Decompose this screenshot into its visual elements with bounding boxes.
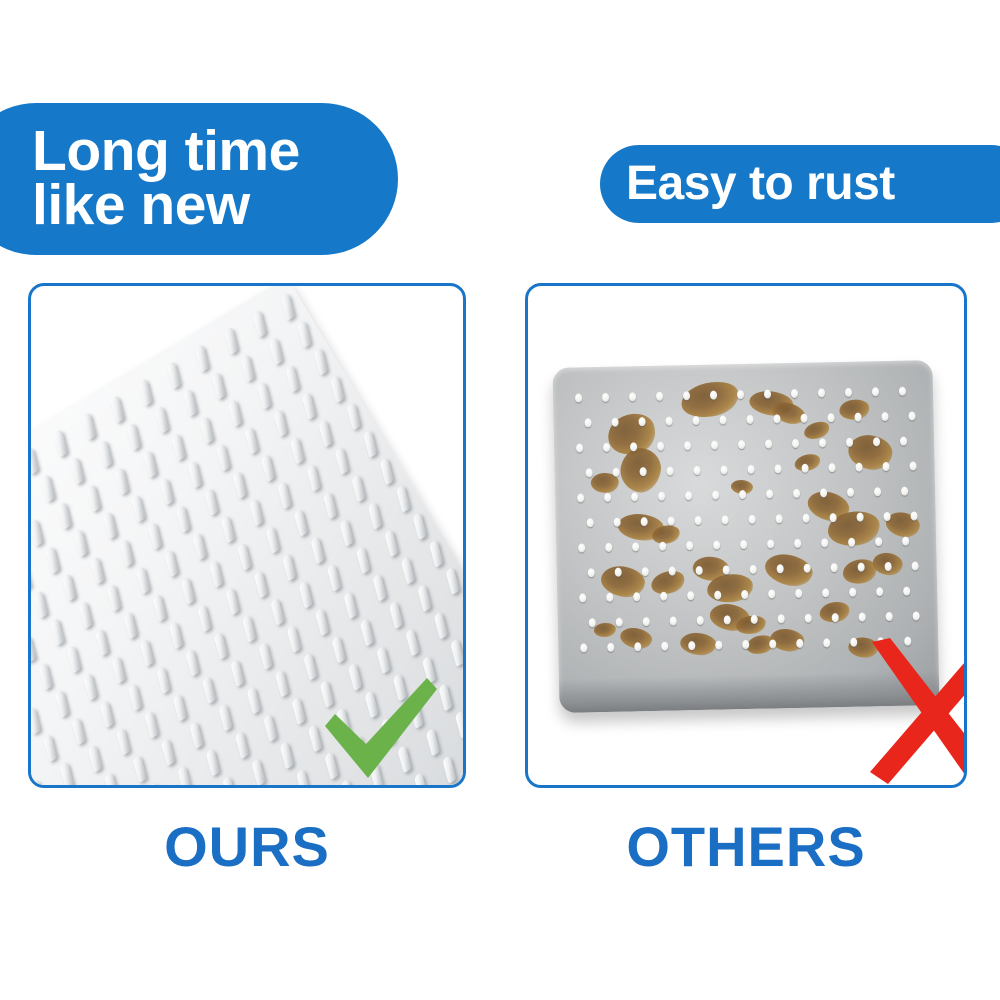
mat-stud-dot xyxy=(765,439,772,448)
mat-stud-dot xyxy=(872,387,879,396)
mat-stud xyxy=(79,600,93,629)
mat-stud-dot xyxy=(791,389,798,398)
mat-stud xyxy=(302,392,316,421)
mat-stud-dot xyxy=(715,641,722,650)
mat-stud xyxy=(200,415,214,444)
mat-stud-dot xyxy=(899,387,906,396)
mat-stud xyxy=(197,604,211,633)
mat-stud xyxy=(344,590,358,619)
mat-stud-dot xyxy=(804,564,811,573)
mat-stud xyxy=(443,755,457,784)
mat-stud xyxy=(278,481,292,510)
mat-stud xyxy=(145,710,159,739)
mat-stud-dot xyxy=(830,513,837,522)
mat-stud-dot xyxy=(634,642,641,651)
mat-stud-dot xyxy=(657,442,664,451)
mat-stud xyxy=(389,601,403,630)
cross-icon xyxy=(858,636,964,785)
mat-stud-dot xyxy=(629,392,636,401)
mat-stud xyxy=(368,501,382,530)
mat-stud-dot xyxy=(684,441,691,450)
mat-stud xyxy=(209,559,223,588)
mat-stud-dot xyxy=(660,592,667,601)
mat-stud xyxy=(356,546,370,575)
mat-stud-dot xyxy=(912,561,919,570)
mat-stud-dot xyxy=(796,639,803,648)
mat-stud xyxy=(306,463,320,492)
mat-stud xyxy=(462,594,463,623)
mat-stud-dot xyxy=(828,463,835,472)
mat-stud xyxy=(155,405,169,434)
mat-stud-dot xyxy=(831,563,838,572)
mat-stud-dot xyxy=(881,412,888,421)
mat-stud xyxy=(167,361,181,390)
mat-stud-dot xyxy=(803,514,810,523)
mat-stud xyxy=(245,426,259,455)
mat-stud xyxy=(279,741,293,770)
mat-stud-dot xyxy=(913,611,920,620)
mat-stud-dot xyxy=(633,592,640,601)
mat-stud xyxy=(133,754,147,783)
mat-stud xyxy=(103,511,117,540)
mat-stud-dot xyxy=(748,465,755,474)
mat-stud xyxy=(287,624,301,653)
mat-stud xyxy=(86,484,100,513)
mat-stud xyxy=(315,607,329,636)
mat-stud xyxy=(112,655,126,684)
mat-stud xyxy=(254,570,268,599)
mat-stud-dot xyxy=(643,617,650,626)
mat-stud-dot xyxy=(908,411,915,420)
mat-stud-dot xyxy=(587,518,594,527)
panel-others xyxy=(525,283,967,788)
mat-stud xyxy=(31,634,36,663)
mat-stud xyxy=(156,665,170,694)
mat-stud xyxy=(450,638,463,667)
caption-ours: OURS xyxy=(28,812,466,882)
mat-stud xyxy=(330,374,344,403)
mat-stud xyxy=(180,576,194,605)
mat-stud xyxy=(116,727,130,756)
mat-stud-dot xyxy=(575,393,582,402)
mat-stud-dot xyxy=(766,489,773,498)
mat-stud xyxy=(70,456,84,485)
mat-stud xyxy=(128,683,142,712)
mat-stud xyxy=(224,326,238,355)
mat-stud xyxy=(332,635,346,664)
mat-stud xyxy=(291,696,305,725)
mat-stud-dot xyxy=(576,443,583,452)
mat-stud xyxy=(95,628,109,657)
mat-stud-dot xyxy=(749,515,756,524)
mat-stud-dot xyxy=(886,612,893,621)
mat-stud xyxy=(327,563,341,592)
mat-stud-dot xyxy=(774,464,781,473)
mat-stud-dot xyxy=(773,414,780,423)
mat-stud xyxy=(318,419,332,448)
mat-stud-dot xyxy=(697,616,704,625)
mat-stud-dot xyxy=(857,513,864,522)
mat-stud-dot xyxy=(848,538,855,547)
mat-stud-dot xyxy=(875,537,882,546)
panel-ours xyxy=(28,283,466,788)
mat-stud xyxy=(115,467,129,496)
mat-stud-dot xyxy=(710,391,717,400)
mat-stud xyxy=(159,477,173,506)
mat-stud-dot xyxy=(667,467,674,476)
mat-stud-dot xyxy=(855,463,862,472)
mat-stud xyxy=(46,545,60,574)
mat-stud-dot xyxy=(900,437,907,446)
mat-stud-dot xyxy=(611,418,618,427)
mat-stud-dot xyxy=(658,492,665,501)
mat-stud-dot xyxy=(793,489,800,498)
mat-stud xyxy=(251,758,265,785)
mat-stud-dot xyxy=(577,493,584,502)
mat-stud-dot xyxy=(805,614,812,623)
mat-stud xyxy=(98,439,112,468)
mat-stud xyxy=(234,731,248,760)
mat-stud xyxy=(257,381,271,410)
mat-stud xyxy=(384,529,398,558)
mat-stud-dot xyxy=(694,466,701,475)
caption-others: OTHERS xyxy=(525,812,967,882)
mat-stud-dot xyxy=(615,568,622,577)
mat-stud xyxy=(275,669,289,698)
mat-stud-dot xyxy=(751,615,758,624)
mat-stud xyxy=(445,566,459,595)
mat-stud xyxy=(53,429,67,458)
mat-stud-dot xyxy=(586,468,593,477)
mat-stud xyxy=(263,714,277,743)
mat-stud-dot xyxy=(821,538,828,547)
mat-stud xyxy=(147,522,161,551)
mat-stud xyxy=(71,717,85,746)
mat-stud xyxy=(246,686,260,715)
mat-stud xyxy=(269,337,283,366)
mat-stud-dot xyxy=(801,464,808,473)
badge-easy-to-rust: Easy to rust xyxy=(600,145,1000,223)
mat-stud-dot xyxy=(764,389,771,398)
mat-stud-dot xyxy=(661,642,668,651)
mat-stud xyxy=(161,737,175,766)
mat-stud xyxy=(50,617,64,646)
mat-stud xyxy=(339,518,353,547)
mat-stud xyxy=(201,676,215,705)
mat-stud-dot xyxy=(614,518,621,527)
mat-stud xyxy=(396,484,410,513)
mat-stud-dot xyxy=(750,565,757,574)
mat-stud xyxy=(83,672,97,701)
mat-stud-dot xyxy=(692,416,699,425)
mat-stud xyxy=(140,638,154,667)
mat-stud-dot xyxy=(850,638,857,647)
mat-stud xyxy=(185,648,199,677)
mat-stud-dot xyxy=(714,591,721,600)
mat-stud-dot xyxy=(800,414,807,423)
mat-stud-dot xyxy=(737,390,744,399)
mat-stud xyxy=(168,621,182,650)
mat-stud-dot xyxy=(901,487,908,496)
mat-stud-dot xyxy=(854,413,861,422)
mat-stud-dot xyxy=(876,587,883,596)
mat-stud-dot xyxy=(820,488,827,497)
badge-long-time-like-new: Long time like new xyxy=(0,103,398,255)
mat-stud-dot xyxy=(847,488,854,497)
mat-stud xyxy=(242,614,256,643)
mat-stud xyxy=(216,443,230,472)
mat-stud xyxy=(82,412,96,441)
mat-stud-dot xyxy=(665,417,672,426)
comparison-infographic: Long time like new Easy to rust xyxy=(0,0,1000,1000)
mat-stud xyxy=(131,494,145,523)
mat-stud xyxy=(74,528,88,557)
mat-stud-dot xyxy=(792,439,799,448)
mat-stud xyxy=(110,395,124,424)
mat-stud xyxy=(188,460,202,489)
mat-stud xyxy=(221,515,235,544)
mat-stud xyxy=(126,422,140,451)
mat-stud xyxy=(323,491,337,520)
mat-stud-dot xyxy=(695,516,702,525)
mat-stud-dot xyxy=(659,542,666,551)
mat-stud xyxy=(206,748,220,777)
mat-stud xyxy=(143,450,157,479)
mat-stud xyxy=(240,354,254,383)
mat-stud-dot xyxy=(656,392,663,401)
mat-stud-dot xyxy=(873,437,880,446)
mat-stud xyxy=(335,446,349,475)
mat-stud xyxy=(347,402,361,431)
mat-stud xyxy=(218,703,232,732)
mat-stud-dot xyxy=(580,643,587,652)
mat-stud-dot xyxy=(711,441,718,450)
mat-stud xyxy=(152,593,166,622)
mat-stud xyxy=(417,584,431,613)
mat-stud-dot xyxy=(722,515,729,524)
mat-stud xyxy=(299,580,313,609)
mat-stud xyxy=(195,343,209,372)
mat-stud xyxy=(455,710,463,739)
check-icon xyxy=(319,674,441,785)
mat-stud-dot xyxy=(909,461,916,470)
mat-stud-dot xyxy=(902,537,909,546)
mat-stud xyxy=(296,768,310,785)
mat-stud xyxy=(297,320,311,349)
mat-stud xyxy=(41,473,55,502)
mat-stud xyxy=(173,693,187,722)
mat-stud-dot xyxy=(631,492,638,501)
mat-stud xyxy=(192,532,206,561)
mat-stud xyxy=(270,597,284,626)
mat-stud-dot xyxy=(641,517,648,526)
mat-stud-dot xyxy=(642,567,649,576)
mat-stud xyxy=(171,432,185,461)
mat-stud xyxy=(135,566,149,595)
mat-stud xyxy=(107,583,121,612)
mat-stud xyxy=(119,539,133,568)
mat-stud xyxy=(380,457,394,486)
mat-stud xyxy=(212,371,226,400)
mat-stud-dot xyxy=(858,563,865,572)
mat-stud-dot xyxy=(588,568,595,577)
mat-stud-dot xyxy=(819,438,826,447)
mat-stud-dot xyxy=(849,588,856,597)
mat-stud xyxy=(363,429,377,458)
mat-stud xyxy=(176,504,190,533)
mat-stud-dot xyxy=(688,641,695,650)
mat-stud-dot xyxy=(823,638,830,647)
mat-stud xyxy=(31,518,43,547)
mat-stud-dot xyxy=(630,442,637,451)
mat-stud-dot xyxy=(882,462,889,471)
mat-stud-dot xyxy=(777,564,784,573)
mat-stud xyxy=(225,587,239,616)
mat-stud xyxy=(266,525,280,554)
mat-stud-dot xyxy=(687,591,694,600)
mat-stud xyxy=(91,556,105,585)
mat-stud xyxy=(303,652,317,681)
mat-stud xyxy=(228,398,242,427)
mat-stud xyxy=(124,611,138,640)
mat-stud-dot xyxy=(795,589,802,598)
mat-stud-dot xyxy=(859,613,866,622)
mat-stud xyxy=(281,292,295,321)
mat-stud xyxy=(377,645,391,674)
mat-stud xyxy=(294,508,308,537)
mat-stud xyxy=(429,539,443,568)
mat-stud xyxy=(405,628,419,657)
mat-stud xyxy=(38,662,52,691)
mat-stud-dot xyxy=(903,587,910,596)
mat-stud xyxy=(58,501,72,530)
mat-stud-dot xyxy=(723,565,730,574)
mat-stud xyxy=(282,553,296,582)
mat-stud xyxy=(43,734,57,763)
mat-stud-dot xyxy=(721,465,728,474)
mat-stud-dot xyxy=(778,614,785,623)
mat-stud-dot xyxy=(613,468,620,477)
mat-stud-dot xyxy=(738,440,745,449)
mat-stud-dot xyxy=(696,566,703,575)
mat-stud-dot xyxy=(584,418,591,427)
mat-stud-dot xyxy=(579,593,586,602)
panel-others-photo xyxy=(528,286,964,785)
mat-stud-dot xyxy=(616,618,623,627)
mat-stud-dot xyxy=(685,491,692,500)
mat-stud-dot xyxy=(884,512,891,521)
mat-stud-dot xyxy=(606,593,613,602)
mat-stud-dot xyxy=(713,541,720,550)
mat-stud-dot xyxy=(832,613,839,622)
mat-stud xyxy=(59,761,73,785)
mat-stud-dot xyxy=(822,588,829,597)
panel-ours-photo xyxy=(31,286,463,785)
mat-stud-dot xyxy=(603,443,610,452)
mat-stud-dot xyxy=(712,491,719,500)
mat-stud-dot xyxy=(670,616,677,625)
mat-stud xyxy=(314,347,328,376)
mat-stud-dot xyxy=(776,514,783,523)
mat-stud xyxy=(258,642,272,671)
mat-stud xyxy=(237,542,251,571)
mat-stud xyxy=(183,388,197,417)
mat-stud xyxy=(138,378,152,407)
mat-stud xyxy=(233,470,247,499)
mat-stud-dot xyxy=(602,393,609,402)
mat-stud xyxy=(351,474,365,503)
mat-stud xyxy=(104,772,118,785)
mat-stud xyxy=(213,631,227,660)
mat-stud-dot xyxy=(845,388,852,397)
mat-stud-dot xyxy=(874,487,881,496)
mat-stud-dot xyxy=(846,438,853,447)
mat-stud xyxy=(230,659,244,688)
mat-stud-dot xyxy=(740,540,747,549)
mat-stud-dot xyxy=(632,542,639,551)
mat-stud-dot xyxy=(885,562,892,571)
mat-stud-dot xyxy=(669,566,676,575)
mat-stud-dot xyxy=(768,589,775,598)
mat-stud-dot xyxy=(724,615,731,624)
mat-stud xyxy=(290,436,304,465)
badge-others-text: Easy to rust xyxy=(626,160,895,208)
mat-stud xyxy=(55,689,69,718)
mat-stud-dot xyxy=(578,543,585,552)
mat-stud xyxy=(252,309,266,338)
mat-stud-dot xyxy=(827,413,834,422)
mat-stud-dot xyxy=(818,388,825,397)
mat-stud-dot xyxy=(640,467,647,476)
mat-stud-dot xyxy=(769,639,776,648)
mat-stud-dot xyxy=(911,511,918,520)
mat-stud xyxy=(177,765,191,785)
mat-stud xyxy=(311,535,325,564)
badge-ours-text: Long time like new xyxy=(32,125,300,232)
mat-stud xyxy=(413,512,427,541)
mat-stud-dot xyxy=(794,539,801,548)
mat-stud-dot xyxy=(686,541,693,550)
mat-stud-dot xyxy=(741,590,748,599)
mat-stud xyxy=(88,744,102,773)
mat-stud xyxy=(360,618,374,647)
mat-stud-dot xyxy=(604,493,611,502)
mat-stud-dot xyxy=(607,643,614,652)
mat-stud xyxy=(34,590,48,619)
mat-stud xyxy=(372,573,386,602)
mat-stud-dot xyxy=(605,543,612,552)
mat-stud xyxy=(401,556,415,585)
mat-stud xyxy=(164,549,178,578)
mat-stud xyxy=(261,453,275,482)
mat-stud-dot xyxy=(719,415,726,424)
mat-stud-dot xyxy=(739,490,746,499)
mat-stud xyxy=(31,446,39,475)
mat-stud-dot xyxy=(746,415,753,424)
mat-stud xyxy=(285,364,299,393)
mat-stud xyxy=(273,409,287,438)
mat-stud-dot xyxy=(767,539,774,548)
mat-stud xyxy=(31,706,40,735)
mat-stud-dot xyxy=(668,516,675,525)
mat-stud-dot xyxy=(683,391,690,400)
mat-stud-dot xyxy=(742,640,749,649)
mat-stud xyxy=(249,498,263,527)
mat-stud xyxy=(434,611,448,640)
mat-stud xyxy=(204,487,218,516)
mat-stud-dot xyxy=(589,618,596,627)
mat-stud xyxy=(189,720,203,749)
